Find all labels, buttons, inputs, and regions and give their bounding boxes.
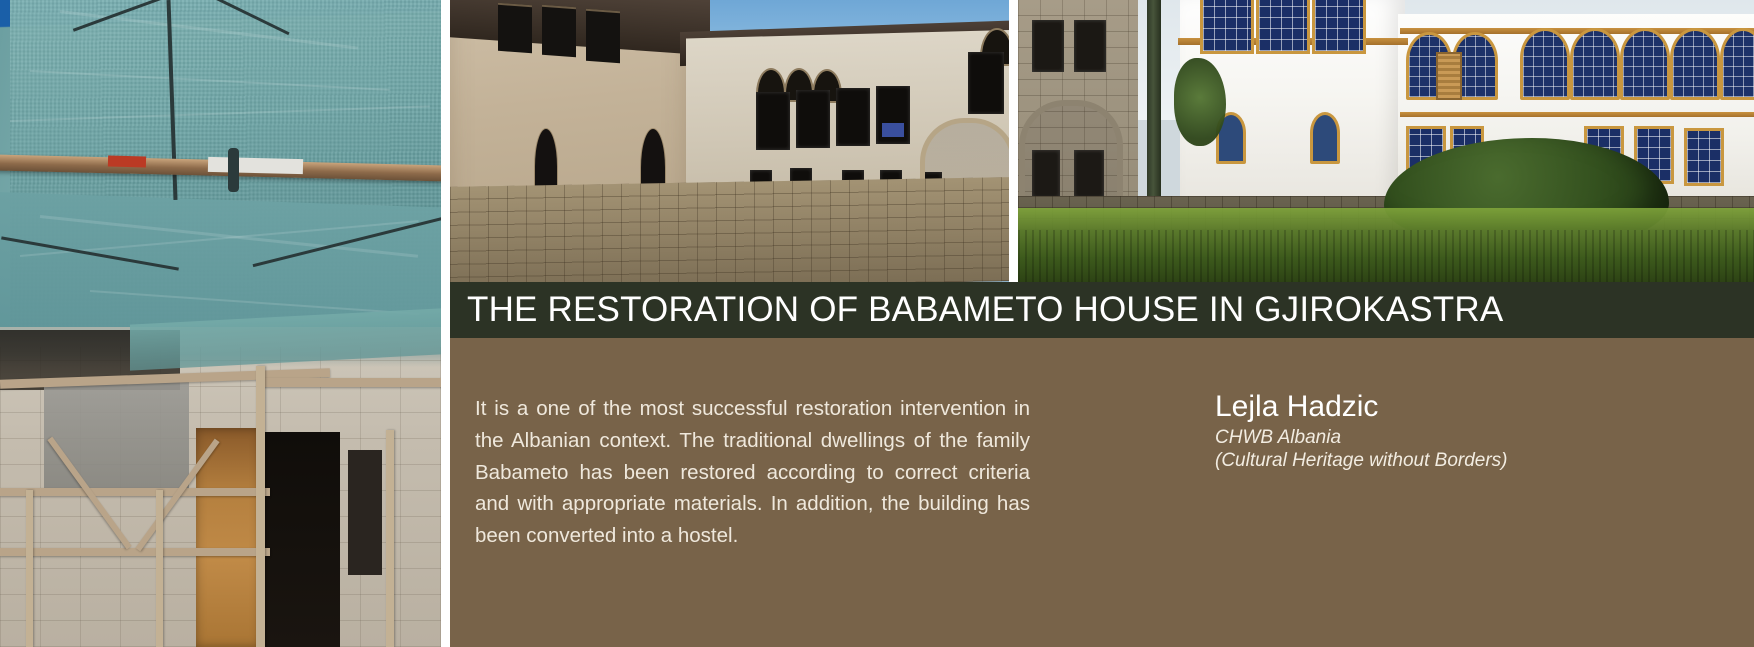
author-organization-full: (Cultural Heritage without Borders) (1215, 449, 1754, 473)
abstract-text: It is a one of the most successful resto… (475, 393, 1030, 552)
stone-retaining-wall (450, 177, 1009, 286)
wing-arched-window (1720, 28, 1754, 100)
dark-doorway-opening (262, 432, 340, 647)
photo-after-restoration (1018, 0, 1754, 286)
attic-window (498, 3, 532, 53)
photo-divider (441, 0, 450, 647)
scaffold-standard (386, 430, 394, 647)
abstract-panel: It is a one of the most successful resto… (450, 338, 1754, 647)
wing-arched-window (1670, 28, 1720, 100)
photo-before-restoration (450, 0, 1009, 286)
scaffold-standard (256, 366, 265, 647)
page-title: THE RESTORATION OF BABAMETO HOUSE IN GJI… (450, 290, 1503, 330)
protective-board-panel (44, 380, 189, 490)
scaffold-standard (156, 490, 163, 647)
upper-window (756, 92, 790, 150)
attic-window (542, 5, 576, 57)
author-column: Lejla Hadzic CHWB Albania (Cultural Heri… (1050, 338, 1754, 647)
wing-lower-window (1684, 128, 1724, 186)
upper-window (968, 52, 1004, 114)
tower-window (1312, 0, 1366, 54)
tower-lower-window (1310, 112, 1340, 164)
stone-building-window (1074, 20, 1106, 72)
upper-window (796, 90, 830, 148)
tower-window (1200, 0, 1254, 54)
scaffold-rail (0, 548, 270, 556)
photo-scaffolding (0, 0, 441, 647)
abstract-column: It is a one of the most successful resto… (450, 338, 1050, 647)
wing-arched-window (1520, 28, 1570, 100)
tower-window (1256, 0, 1310, 54)
stone-building-window (1032, 150, 1060, 198)
scaffold-red-board (108, 156, 146, 168)
foreground-hedge (1018, 230, 1754, 286)
scaffold-white-board (208, 157, 303, 174)
worker-silhouette (228, 148, 239, 192)
attic-window (586, 9, 620, 63)
scaffold-standard (26, 490, 33, 647)
heritage-plaque (882, 123, 904, 137)
wing-arched-window (1620, 28, 1670, 100)
small-tree (1174, 58, 1226, 146)
scaffold-rail (0, 488, 270, 496)
author-organization: CHWB Albania (1215, 426, 1754, 450)
scaffold-rail (258, 378, 441, 387)
stone-building-window (1074, 150, 1104, 198)
author-name: Lejla Hadzic (1215, 390, 1754, 424)
upper-window (836, 88, 870, 146)
wing-string-course (1400, 112, 1754, 117)
poster-panel: THE RESTORATION OF BABAMETO HOUSE IN GJI… (0, 0, 1754, 647)
wing-arched-window (1570, 28, 1620, 100)
window-shutter (1436, 52, 1462, 100)
window-opening (348, 450, 382, 575)
title-band: THE RESTORATION OF BABAMETO HOUSE IN GJI… (450, 282, 1754, 338)
stone-building-window (1032, 20, 1064, 72)
photo-divider (1009, 0, 1018, 286)
